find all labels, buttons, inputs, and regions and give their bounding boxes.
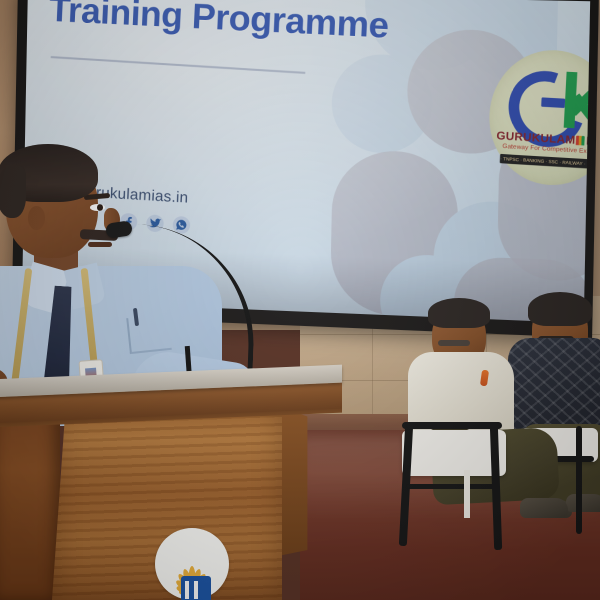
- podium-side-panel: [0, 398, 60, 600]
- ear: [28, 206, 45, 230]
- podium-emblem: [155, 528, 229, 600]
- photo-scene: itive Exam Training Programme www.guruku…: [0, 0, 600, 600]
- emblem-base: [181, 576, 211, 600]
- chair-left: [404, 374, 522, 554]
